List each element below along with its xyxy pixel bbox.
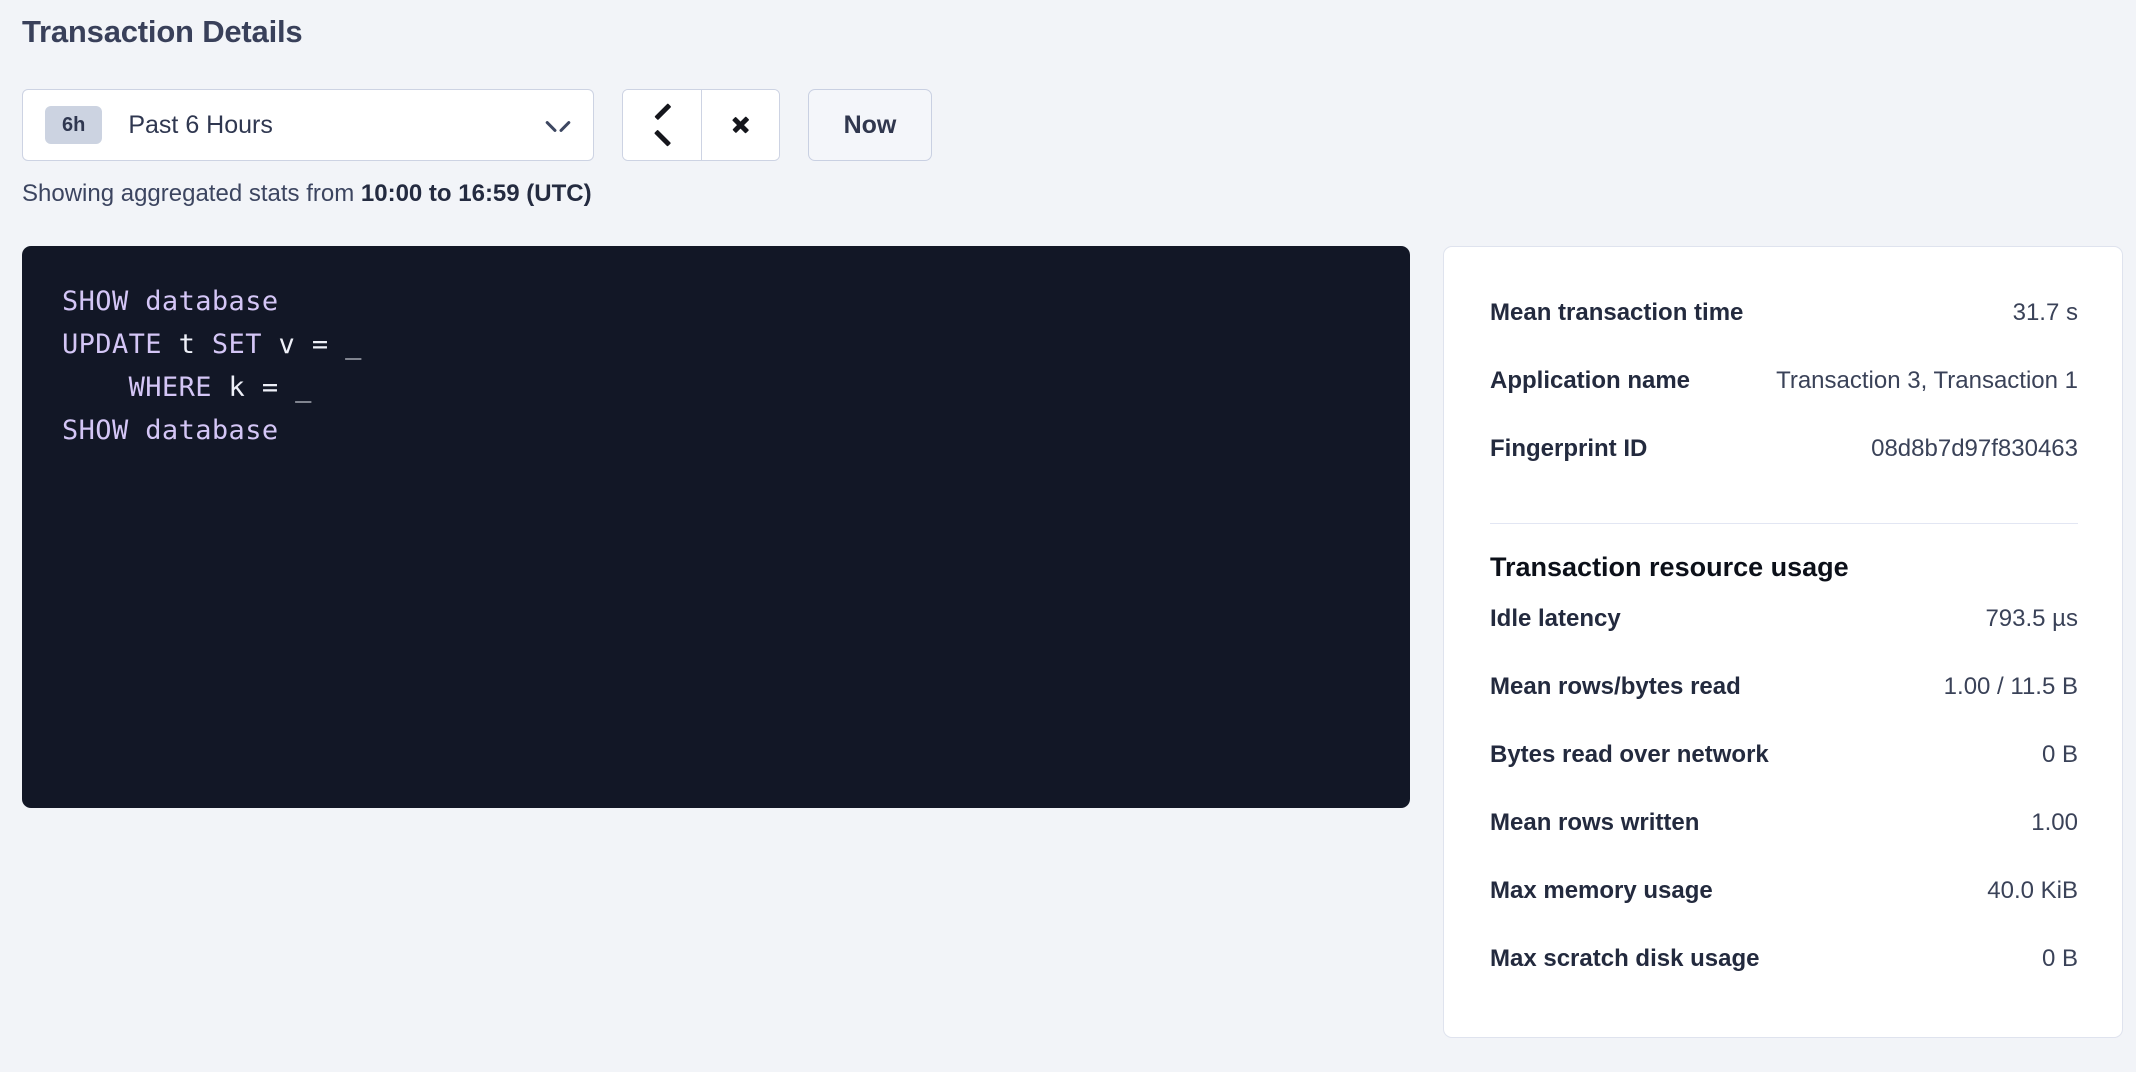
stat-label: Mean rows/bytes read (1490, 673, 1741, 701)
sql-code-line: WHERE k = _ (22, 366, 1410, 409)
resource-stats-list: Idle latency793.5 µsMean rows/bytes read… (1490, 605, 2078, 1013)
time-range-select[interactable]: 6h Past 6 Hours (22, 89, 594, 161)
stat-row: Mean transaction time31.7 s (1490, 299, 2078, 367)
aggregation-range-text: Showing aggregated stats from 10:00 to 1… (22, 180, 592, 208)
sql-text (129, 286, 146, 317)
stat-row: Mean rows/bytes read1.00 / 11.5 B (1490, 673, 2078, 741)
stat-label: Application name (1490, 367, 1690, 395)
page-title: Transaction Details (22, 14, 302, 50)
next-period-button[interactable] (701, 90, 779, 160)
stat-value: 31.7 s (2013, 299, 2078, 327)
stat-value: 0 B (2042, 945, 2078, 973)
stat-label: Mean rows written (1490, 809, 1699, 837)
stat-row: Idle latency793.5 µs (1490, 605, 2078, 673)
stat-label: Mean transaction time (1490, 299, 1743, 327)
card-divider (1490, 523, 2078, 524)
stat-row: Fingerprint ID08d8b7d97f830463 (1490, 435, 2078, 503)
chevron-right-icon (732, 110, 749, 140)
aggregation-range-prefix: Showing aggregated stats from (22, 180, 354, 207)
sql-keyword: SET (212, 329, 262, 360)
resource-usage-heading: Transaction resource usage (1490, 552, 2078, 583)
stat-row: Bytes read over network0 B (1490, 741, 2078, 809)
sql-code-lines: SHOW databaseUPDATE t SET v = _ WHERE k … (22, 280, 1410, 452)
summary-stats-list: Mean transaction time31.7 sApplication n… (1490, 299, 2078, 503)
stat-label: Max memory usage (1490, 877, 1713, 905)
sql-statement-panel[interactable]: SHOW databaseUPDATE t SET v = _ WHERE k … (22, 246, 1410, 808)
stat-label: Max scratch disk usage (1490, 945, 1759, 973)
stat-row: Max scratch disk usage0 B (1490, 945, 2078, 1013)
time-range-badge: 6h (45, 106, 102, 144)
stat-value: 40.0 KiB (1987, 877, 2078, 905)
sql-identifier: database (145, 286, 278, 317)
sql-keyword: UPDATE (62, 329, 162, 360)
sql-keyword: WHERE (129, 372, 212, 403)
stat-row: Mean rows written1.00 (1490, 809, 2078, 877)
chevron-down-icon (547, 119, 569, 132)
sql-keyword: SHOW (62, 415, 129, 446)
stat-value: 08d8b7d97f830463 (1871, 435, 2078, 463)
aggregation-range-value: 10:00 to 16:59 (UTC) (361, 180, 592, 207)
stat-value: 1.00 / 11.5 B (1944, 673, 2078, 701)
previous-period-button[interactable] (623, 90, 701, 160)
stat-label: Idle latency (1490, 605, 1621, 633)
sql-text: k = _ (212, 372, 312, 403)
sql-code-line: SHOW database (22, 280, 1410, 323)
sql-text: t (162, 329, 212, 360)
sql-code-line: UPDATE t SET v = _ (22, 323, 1410, 366)
stat-row: Application nameTransaction 3, Transacti… (1490, 367, 2078, 435)
stat-label: Fingerprint ID (1490, 435, 1647, 463)
transaction-stats-card: Mean transaction time31.7 sApplication n… (1443, 246, 2123, 1038)
stat-value: 1.00 (2031, 809, 2078, 837)
stat-label: Bytes read over network (1490, 741, 1769, 769)
stat-value: 0 B (2042, 741, 2078, 769)
time-nav-group (622, 89, 780, 161)
time-range-label: Past 6 Hours (128, 111, 547, 140)
now-button[interactable]: Now (808, 89, 932, 161)
sql-identifier: database (145, 415, 278, 446)
sql-text (129, 415, 146, 446)
stat-value: Transaction 3, Transaction 1 (1776, 367, 2078, 395)
sql-keyword: SHOW (62, 286, 129, 317)
sql-code-line: SHOW database (22, 409, 1410, 452)
sql-text: v = _ (262, 329, 362, 360)
chevron-left-icon (654, 110, 671, 140)
sql-text (62, 372, 129, 403)
transaction-details-page: Transaction Details 6h Past 6 Hours Now … (0, 0, 2136, 1072)
time-range-toolbar: 6h Past 6 Hours Now (22, 89, 932, 161)
stat-row: Max memory usage40.0 KiB (1490, 877, 2078, 945)
stat-value: 793.5 µs (1985, 605, 2078, 633)
